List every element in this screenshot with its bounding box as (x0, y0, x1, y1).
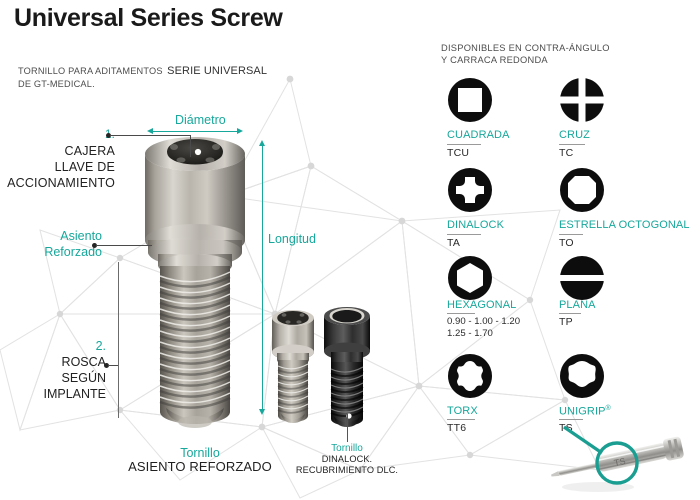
length-arrow-line (262, 146, 263, 409)
small-silver-screw-illustration (268, 308, 318, 430)
drivers-panel-header: DISPONIBLES EN CONTRA-ÁNGULO Y CARRACA R… (441, 42, 610, 66)
octagon-socket-name: ESTRELLA OCTOGONAL (559, 219, 690, 231)
callout-rosca-number: 2. (0, 338, 106, 354)
torx-socket-code: TT6 (447, 422, 466, 434)
torx-socket-rule (447, 419, 475, 420)
cross-socket-name: CRUZ (559, 129, 590, 141)
octagon-socket-rule (559, 234, 583, 235)
dlc-screw-label-line3: RECUBRIMIENTO DLC. (282, 465, 412, 476)
drivers-panel-header-line1: DISPONIBLES EN CONTRA-ÁNGULO (441, 42, 610, 54)
cross-socket-code: TC (559, 147, 573, 159)
cross-socket-rule (559, 144, 585, 145)
hexagon-socket-rule (447, 313, 475, 314)
callout-asiento-line2: Reforzado (0, 245, 102, 261)
square-socket-icon (447, 77, 493, 123)
length-arrow-down (259, 409, 265, 415)
hexagon-socket-sizes: 0.90 - 1.00 - 1.20 1.25 - 1.70 (447, 316, 520, 339)
octagon-socket-icon (559, 167, 605, 213)
callout-cajera-line1: CAJERA (0, 143, 115, 159)
subtitle-highlight: SERIE UNIVERSAL (167, 65, 267, 77)
callout-rosca-line3: IMPLANTE (0, 386, 106, 402)
callout-cajera-line2: LLAVE DE (0, 159, 115, 175)
callout-rosca-line2: SEGÚN (0, 370, 106, 386)
unigrip-socket-rule (559, 419, 583, 420)
callout-cajera-leader-vertical (190, 135, 191, 157)
unigrip-socket-name-text: UNIGRIP (559, 406, 606, 418)
subtitle-block: TORNILLO PARA ADITAMENTOS SERIE UNIVERSA… (18, 64, 278, 90)
flat-slot-socket-rule (559, 313, 581, 314)
diameter-arrow-line (152, 131, 238, 132)
callout-cajera-leader (110, 135, 190, 136)
dlc-screw-label-line2: DINALOCK. (282, 454, 412, 465)
dinalock-socket-icon (447, 167, 493, 213)
dlc-screw-leader (347, 414, 348, 442)
flat-slot-socket-name: PLANA (559, 299, 596, 311)
diameter-arrow-left (147, 128, 153, 134)
subtitle-line2: DE GT-MEDICAL. (18, 78, 278, 91)
length-arrow-up (259, 140, 265, 146)
page-title: Universal Series Screw (14, 4, 283, 33)
callout-rosca-line1: ROSCA (0, 354, 106, 370)
hexagon-socket-sizes-line2: 1.25 - 1.70 (447, 328, 520, 340)
flat-slot-socket-icon (559, 255, 605, 301)
callout-rosca: 2. ROSCA SEGÚN IMPLANTE (0, 338, 106, 402)
hexagon-socket-icon (447, 255, 493, 301)
cross-socket-icon (559, 77, 605, 123)
dinalock-socket-name: DINALOCK (447, 219, 504, 231)
dlc-screw-label: Tornillo DINALOCK. RECUBRIMIENTO DLC. (282, 443, 412, 476)
poster-canvas: Universal Series Screw TORNILLO PARA ADI… (0, 0, 700, 500)
square-socket-name: CUADRADA (447, 129, 510, 141)
subtitle-line1: TORNILLO PARA ADITAMENTOS (18, 66, 163, 76)
length-label: Longitud (268, 232, 316, 246)
dlc-screw-label-line1: Tornillo (282, 443, 412, 454)
callout-asiento-leader (96, 245, 152, 246)
square-socket-code: TCU (447, 147, 469, 159)
square-socket-rule (447, 144, 481, 145)
unigrip-socket-name: UNIGRIP® (559, 405, 611, 418)
hexagon-socket-name: HEXAGONAL (447, 299, 516, 311)
dinalock-socket-rule (447, 234, 481, 235)
callout-asiento-line1: Asiento (0, 229, 102, 245)
main-screw-illustration (136, 132, 254, 432)
diameter-arrow-right (237, 128, 243, 134)
drivers-panel-header-line2: Y CARRACA REDONDA (441, 54, 610, 66)
callout-cajera-number: 1. (0, 127, 115, 143)
callout-asiento: Asiento Reforzado (0, 229, 102, 260)
thread-range-bracket (118, 262, 119, 418)
diameter-label: Diámetro (175, 113, 226, 127)
hexagon-socket-sizes-line1: 0.90 - 1.00 - 1.20 (447, 316, 520, 328)
flat-slot-socket-code: TP (559, 316, 573, 328)
torx-socket-name: TORX (447, 405, 478, 417)
callout-cajera-line3: ACCIONAMIENTO (0, 175, 115, 191)
main-screw-label-line2: ASIENTO REFORZADO (105, 460, 295, 473)
unigrip-registered-mark: ® (606, 405, 611, 412)
unigrip-socket-icon (559, 353, 605, 399)
torx-socket-icon (447, 353, 493, 399)
dinalock-socket-code: TA (447, 237, 460, 249)
main-screw-label: Tornillo ASIENTO REFORZADO (105, 447, 295, 473)
callout-cajera: 1. CAJERA LLAVE DE ACCIONAMIENTO (0, 127, 115, 191)
octagon-socket-code: TO (559, 237, 574, 249)
unigrip-driver-tool-illustration: TS (540, 424, 700, 500)
